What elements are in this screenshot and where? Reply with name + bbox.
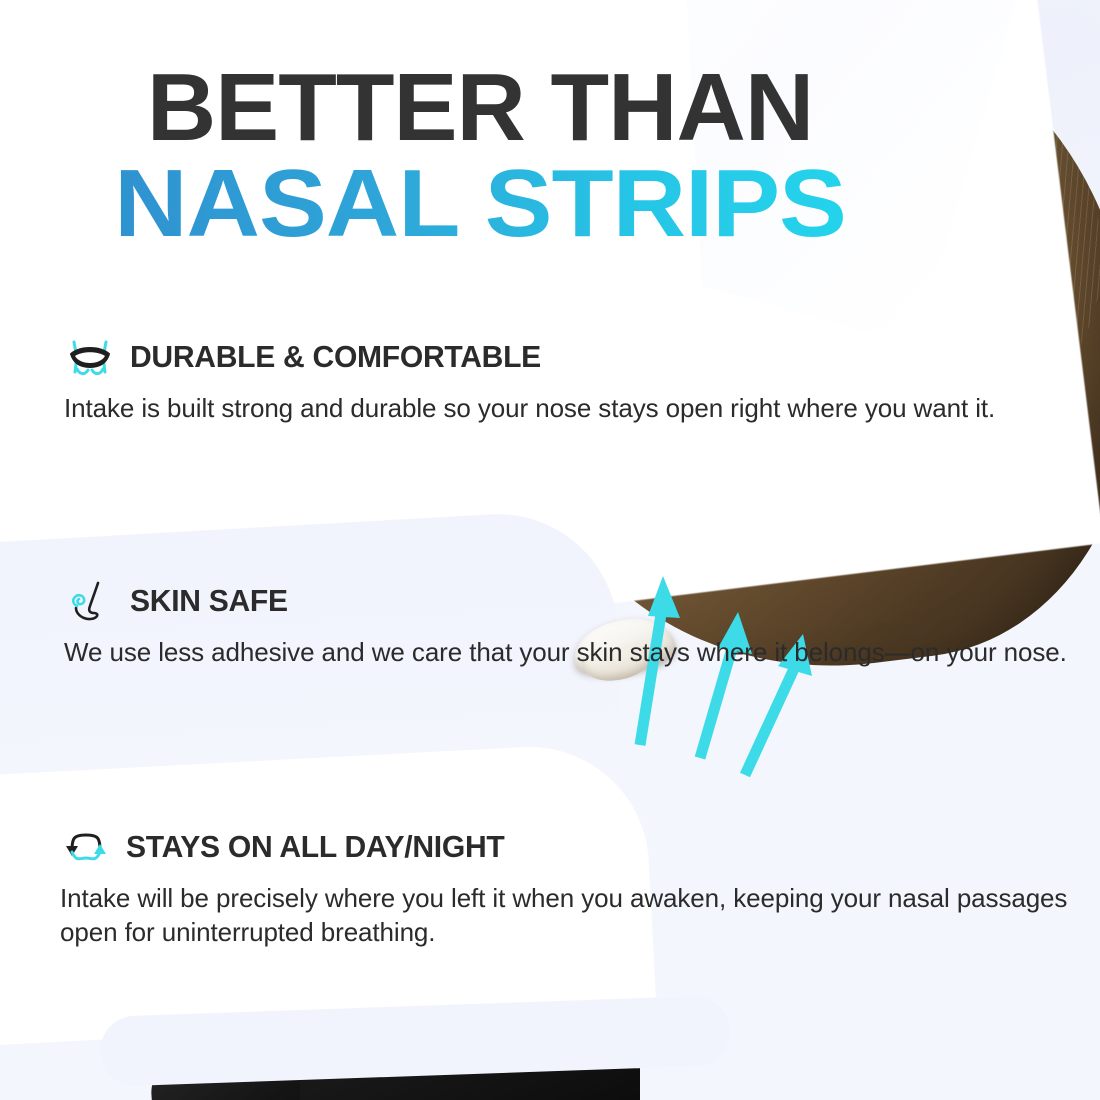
feature-stays-on-all-day-night: STAYS ON ALL DAY/NIGHT Intake will be pr…	[60, 826, 1100, 950]
feature-body: We use less adhesive and we care that yo…	[64, 636, 1067, 670]
headline: BETTER THAN NASAL STRIPS	[0, 62, 960, 252]
infographic-canvas: BETTER THAN NASAL STRIPS DURABLE & COMFO…	[0, 0, 1100, 1100]
headline-line-2: NASAL STRIPS	[0, 156, 989, 252]
headline-line-1: BETTER THAN	[0, 62, 960, 154]
feature-body: Intake will be precisely where you left …	[60, 882, 1100, 950]
feature-body: Intake is built strong and durable so yo…	[64, 392, 995, 426]
device-loop-cycle-icon	[60, 826, 112, 868]
feature-heading: DURABLE & COMFORTABLE	[64, 336, 995, 378]
feature-skin-safe: SKIN SAFE We use less adhesive and we ca…	[64, 580, 1067, 670]
nose-profile-skin-icon	[64, 580, 116, 622]
feature-title: SKIN SAFE	[130, 583, 288, 619]
feature-title: STAYS ON ALL DAY/NIGHT	[126, 829, 504, 865]
feature-heading: SKIN SAFE	[64, 580, 1067, 622]
feature-durable-comfortable: DURABLE & COMFORTABLE Intake is built st…	[64, 336, 995, 426]
nose-device-airflow-icon	[64, 336, 116, 378]
feature-heading: STAYS ON ALL DAY/NIGHT	[60, 826, 1100, 868]
feature-title: DURABLE & COMFORTABLE	[130, 339, 541, 375]
content-layer: BETTER THAN NASAL STRIPS DURABLE & COMFO…	[0, 0, 1100, 1100]
